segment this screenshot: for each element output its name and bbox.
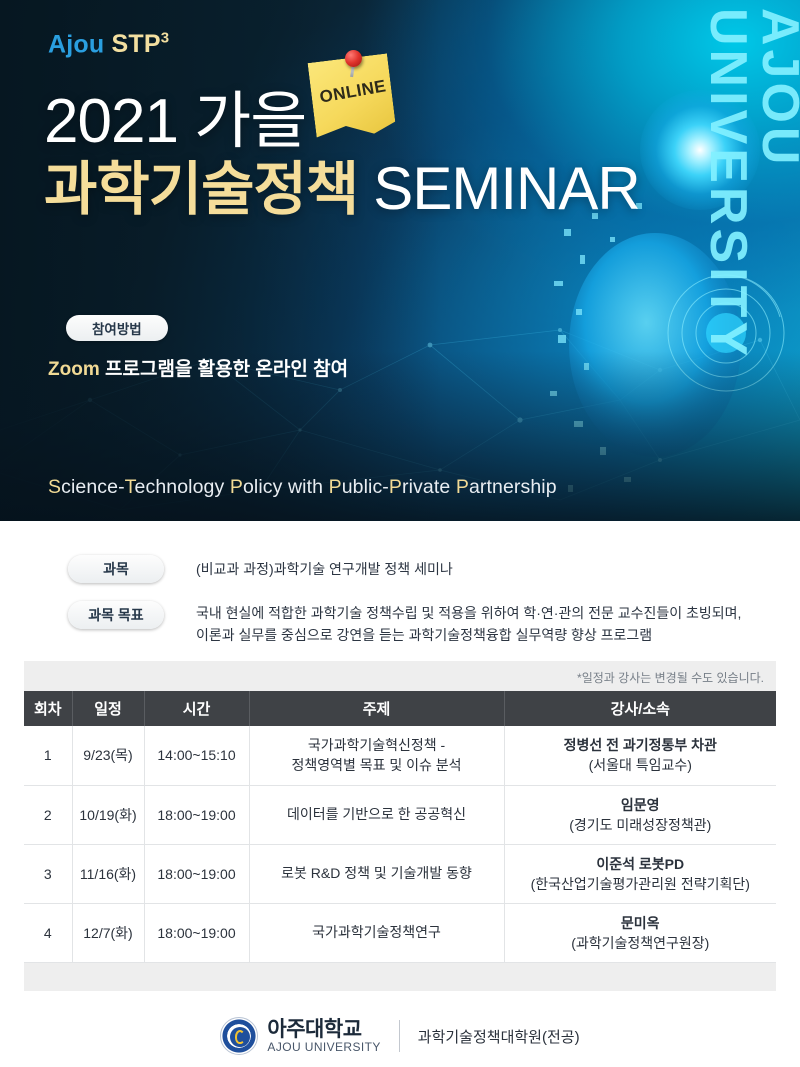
lecturer-name: 정병선 전 과기정통부 차관 <box>509 735 773 755</box>
title-seminar: SEMINAR <box>373 155 639 222</box>
course-subject-row: 과목 (비교과 과정)과학기술 연구개발 정책 세미나 <box>68 555 453 583</box>
schedule-panel: *일정과 강사는 변경될 수도 있습니다. 회차일정시간주제강사/소속 19/2… <box>24 661 776 991</box>
tagline-word-1: echnology <box>135 476 230 498</box>
table-body: 19/23(목)14:00~15:10국가과학기술혁신정책 -정책영역별 목표 … <box>24 726 776 962</box>
tagline-initial-4: P <box>389 476 402 498</box>
topic-line1: 국가과학기술정책연구 <box>254 922 500 942</box>
tagline-initial-1: T <box>125 476 135 498</box>
hero-tagline: Science-Technology Policy with Public-Pr… <box>48 476 557 499</box>
cell-lecturer: 문미옥(과학기술정책연구원장) <box>504 903 776 962</box>
lecturer-org: (경기도 미래성장정책관) <box>509 815 773 835</box>
brand-logo: Ajou STP3 <box>48 30 169 59</box>
course-info-section: 과목 (비교과 과정)과학기술 연구개발 정책 세미나 과목 목표 국내 현실에… <box>0 521 800 661</box>
lecturer-org: (한국산업기술평가관리원 전략기획단) <box>509 874 773 894</box>
cell-session-no: 4 <box>24 903 72 962</box>
lecturer-org: (서울대 특임교수) <box>509 755 773 775</box>
university-name-block: 아주대학교 AJOU UNIVERSITY <box>267 1019 380 1054</box>
university-name-kr: 아주대학교 <box>267 1019 380 1041</box>
table-header-row: 회차일정시간주제강사/소속 <box>24 691 776 726</box>
tagline-word-4: rivate <box>402 476 456 498</box>
tagline-initial-0: S <box>48 476 61 498</box>
table-header-4: 강사/소속 <box>504 691 776 726</box>
table-header-0: 회차 <box>24 691 72 726</box>
participation-badge: 참여방법 <box>66 315 168 341</box>
participation-method: Zoom 프로그램을 활용한 온라인 참여 <box>48 354 348 381</box>
lecturer-name: 임문영 <box>509 795 773 815</box>
tagline-word-3: ublic- <box>342 476 389 498</box>
tagline-word-5: artnership <box>469 476 557 498</box>
lecturer-org: (과학기술정책연구원장) <box>509 933 773 953</box>
participation-method-rest: 프로그램을 활용한 온라인 참여 <box>100 359 348 380</box>
cell-topic: 국가과학기술정책연구 <box>249 903 504 962</box>
title-korean: 과학기술정책 <box>44 157 358 222</box>
table-row: 412/7(화)18:00~19:00국가과학기술정책연구문미옥(과학기술정책연… <box>24 903 776 962</box>
cell-topic: 로봇 R&D 정책 및 기술개발 동향 <box>249 844 504 903</box>
cell-time: 18:00~19:00 <box>144 785 249 844</box>
cell-date: 12/7(화) <box>72 903 144 962</box>
cell-lecturer: 정병선 전 과기정통부 차관(서울대 특임교수) <box>504 726 776 785</box>
cell-date: 9/23(목) <box>72 726 144 785</box>
seal-emblem-icon <box>235 1030 245 1044</box>
schedule-note: *일정과 강사는 변경될 수도 있습니다. <box>577 669 764 686</box>
topic-line1: 로봇 R&D 정책 및 기술개발 동향 <box>254 863 500 883</box>
topic-line1: 국가과학기술혁신정책 - <box>254 735 500 755</box>
course-subject-value: (비교과 과정)과학기술 연구개발 정책 세미나 <box>196 555 453 583</box>
topic-line1: 데이터를 기반으로 한 공공혁신 <box>254 804 500 824</box>
topic-line2: 정책영역별 목표 및 이슈 분석 <box>254 755 500 775</box>
course-goal-line2: 이론과 실무를 중심으로 강연을 듣는 과학기술정책융합 실무역량 향상 프로그… <box>196 627 652 643</box>
schedule-table: 회차일정시간주제강사/소속 19/23(목)14:00~15:10국가과학기술혁… <box>24 691 776 963</box>
brand-stp: STP3 <box>112 30 170 58</box>
course-goal-value: 국내 현실에 적합한 과학기술 정책수립 및 적용을 위하여 학·연·관의 전문… <box>196 601 741 646</box>
cell-topic: 국가과학기술혁신정책 -정책영역별 목표 및 이슈 분석 <box>249 726 504 785</box>
table-header-2: 시간 <box>144 691 249 726</box>
course-goal-label: 과목 목표 <box>68 601 164 629</box>
course-goal-row: 과목 목표 국내 현실에 적합한 과학기술 정책수립 및 적용을 위하여 학·연… <box>68 601 741 646</box>
tagline-word-2: olicy with <box>243 476 329 498</box>
table-row: 210/19(화)18:00~19:00데이터를 기반으로 한 공공혁신임문영(… <box>24 785 776 844</box>
table-header-1: 일정 <box>72 691 144 726</box>
cell-session-no: 3 <box>24 844 72 903</box>
cell-session-no: 2 <box>24 785 72 844</box>
department-name: 과학기술정책대학원(전공) <box>418 1026 580 1047</box>
cell-time: 18:00~19:00 <box>144 903 249 962</box>
lecturer-name: 이준석 로봇PD <box>509 854 773 874</box>
tagline-initial-3: P <box>329 476 342 498</box>
table-row: 19/23(목)14:00~15:10국가과학기술혁신정책 -정책영역별 목표 … <box>24 726 776 785</box>
tagline-initial-5: P <box>456 476 469 498</box>
cell-lecturer: 임문영(경기도 미래성장정책관) <box>504 785 776 844</box>
course-subject-label: 과목 <box>68 555 164 583</box>
cell-time: 18:00~19:00 <box>144 844 249 903</box>
footer: 아주대학교 AJOU UNIVERSITY 과학기술정책대학원(전공) <box>0 1005 800 1067</box>
participation-badge-label: 참여방법 <box>66 315 168 341</box>
cell-lecturer: 이준석 로봇PD(한국산업기술평가관리원 전략기획단) <box>504 844 776 903</box>
footer-divider <box>399 1020 400 1052</box>
tagline-word-0: cience- <box>61 476 125 498</box>
university-seal-icon <box>220 1017 258 1055</box>
table-row: 311/16(화)18:00~19:00로봇 R&D 정책 및 기술개발 동향이… <box>24 844 776 903</box>
brand-ajou: Ajou <box>48 30 104 58</box>
cell-date: 10/19(화) <box>72 785 144 844</box>
hero-banner: Ajou STP3 2021 가을 과학기술정책 SEMINAR ONLINE … <box>0 0 800 521</box>
poster-title-line2: 과학기술정책 SEMINAR <box>44 142 640 226</box>
table-header-3: 주제 <box>249 691 504 726</box>
lecturer-name: 문미옥 <box>509 913 773 933</box>
course-goal-line1: 국내 현실에 적합한 과학기술 정책수립 및 적용을 위하여 학·연·관의 전문… <box>196 605 741 621</box>
vertical-university-text: AJOU UNIVERSITY <box>702 0 800 521</box>
cell-date: 11/16(화) <box>72 844 144 903</box>
cell-session-no: 1 <box>24 726 72 785</box>
tagline-initial-2: P <box>230 476 243 498</box>
pushpin-icon <box>345 50 362 67</box>
cell-time: 14:00~15:10 <box>144 726 249 785</box>
zoom-keyword: Zoom <box>48 359 100 380</box>
university-name-en: AJOU UNIVERSITY <box>267 1041 380 1054</box>
cell-topic: 데이터를 기반으로 한 공공혁신 <box>249 785 504 844</box>
